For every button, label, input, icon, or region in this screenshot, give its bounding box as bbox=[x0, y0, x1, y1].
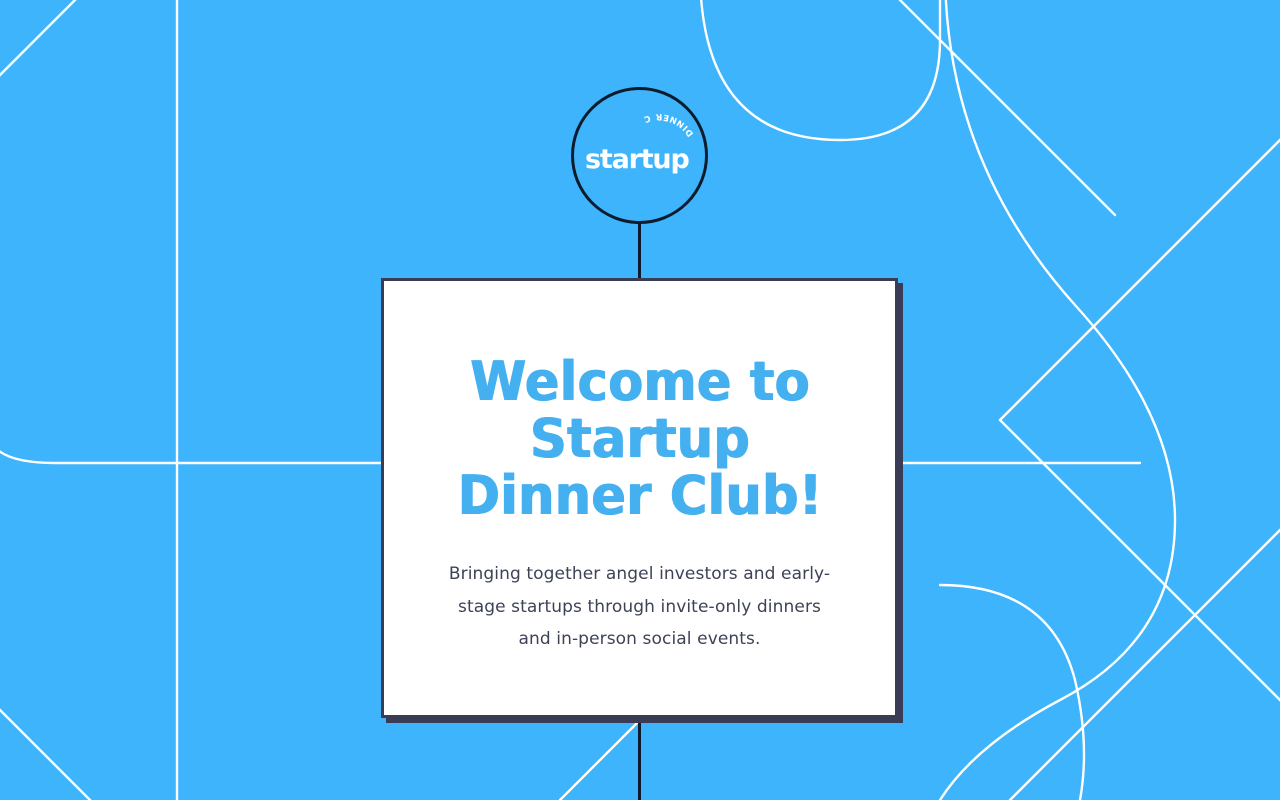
welcome-subtext: Bringing together angel investors and ea… bbox=[442, 558, 837, 656]
connector-line-top bbox=[638, 218, 641, 282]
pattern-arc-bottom-right bbox=[940, 585, 1084, 800]
pattern-diagonal-top-mid bbox=[860, 0, 1115, 215]
pattern-arc-upper-right bbox=[940, 0, 1175, 800]
welcome-heading: Welcome to Startup Dinner Club! bbox=[441, 353, 839, 524]
connector-line-bottom bbox=[638, 716, 641, 800]
logo-arc-text: DINNER CLUB bbox=[574, 90, 696, 138]
pattern-diagonal-right bbox=[1000, 130, 1280, 710]
pattern-diagonal-bottom-right bbox=[1010, 520, 1280, 800]
welcome-card: Welcome to Startup Dinner Club! Bringing… bbox=[381, 278, 898, 718]
logo-svg: startup DINNER CLUB bbox=[574, 90, 711, 227]
logo-wordmark-text: startup bbox=[585, 144, 689, 175]
pattern-diagonal-topleft bbox=[0, 0, 100, 95]
pattern-arc-top bbox=[700, 0, 940, 140]
pattern-diagonal-bottomleft bbox=[0, 690, 130, 800]
logo-badge[interactable]: startup DINNER CLUB bbox=[571, 87, 708, 224]
